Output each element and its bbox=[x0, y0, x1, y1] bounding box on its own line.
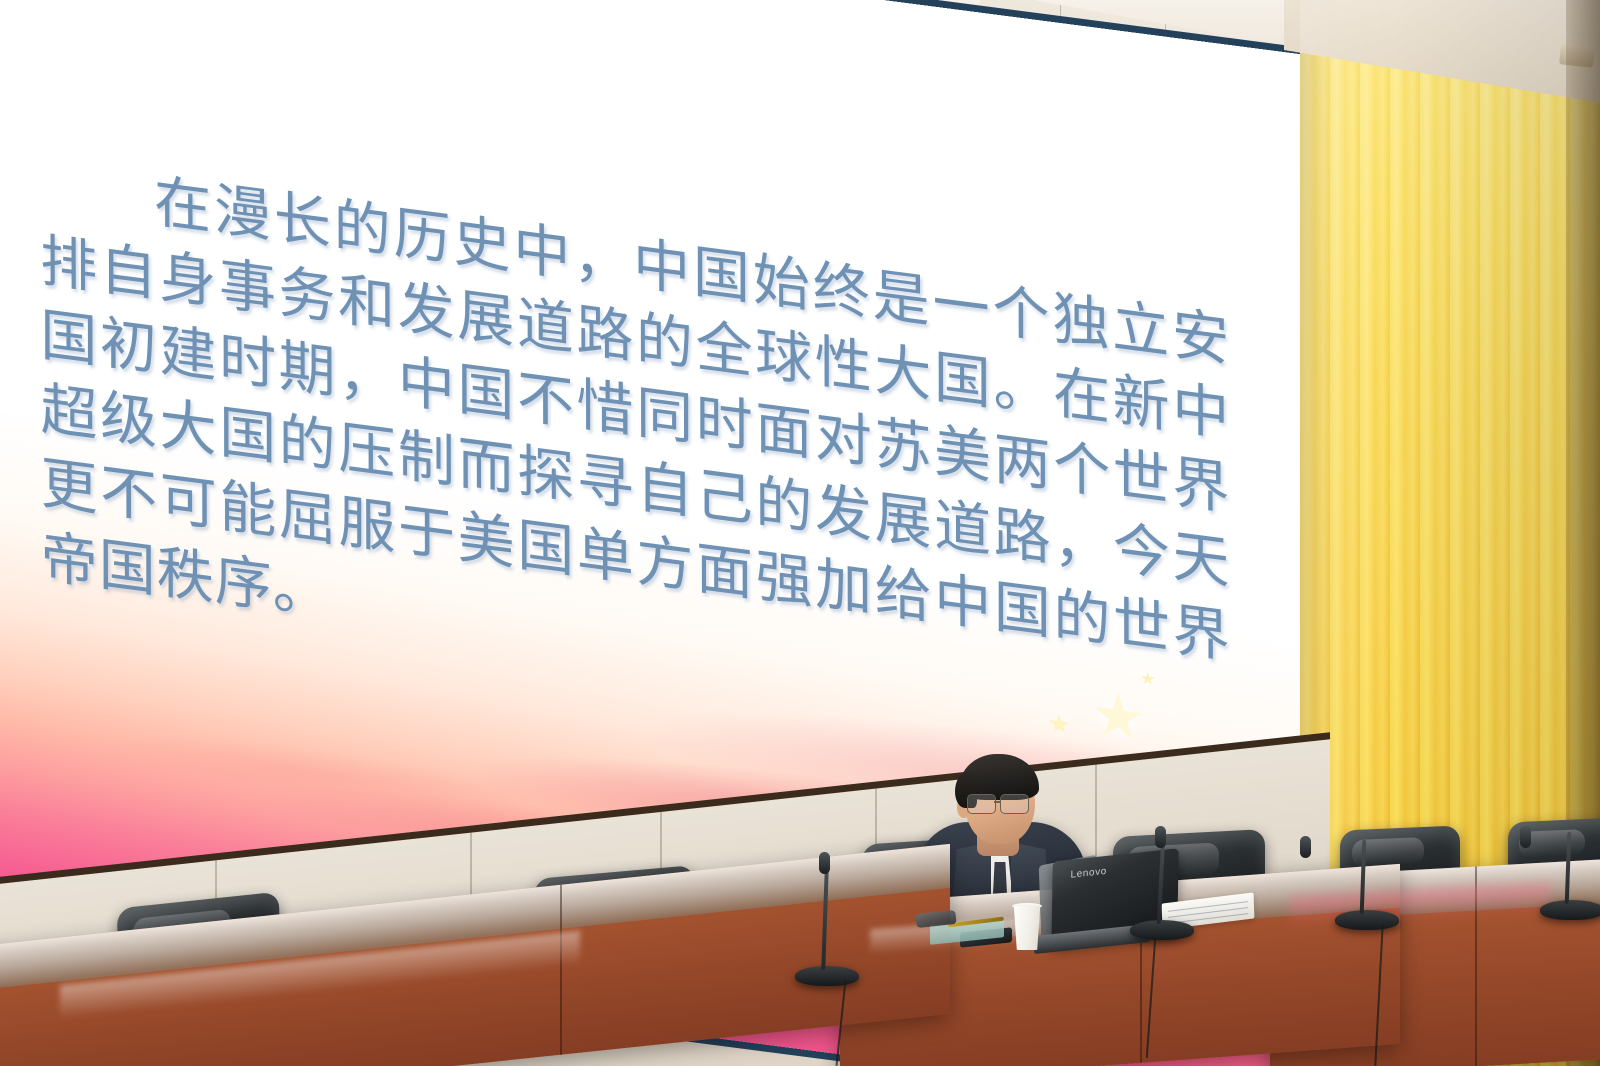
paper-cup bbox=[1012, 906, 1042, 950]
laptop-brand-label: Lenovo bbox=[1070, 866, 1107, 881]
microphone-head-3 bbox=[1300, 836, 1311, 858]
microphone-head-1 bbox=[1155, 826, 1166, 848]
microphone-head-4 bbox=[1520, 826, 1531, 848]
conference-room-scene: ★ ★ ★ 在漫长的历史中，中国始终是一个独立安排自身事务和发展道路的全球性大国… bbox=[0, 0, 1600, 1066]
microphone-head-2 bbox=[819, 852, 830, 874]
microphone-base-1 bbox=[1130, 920, 1194, 940]
microphone-base-4 bbox=[1540, 900, 1600, 920]
glasses-icon bbox=[967, 794, 1033, 814]
microphone-base-2 bbox=[795, 966, 859, 986]
microphone-base-3 bbox=[1335, 910, 1399, 930]
